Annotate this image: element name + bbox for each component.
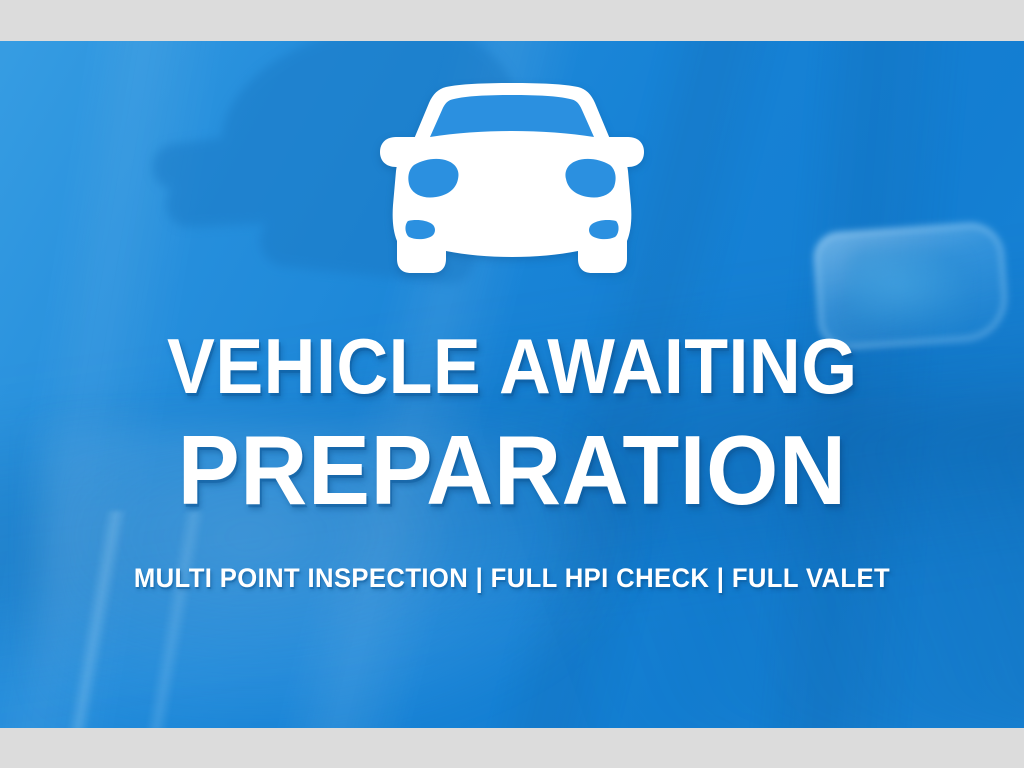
image-viewport: VEHICLE AWAITING PREPARATION MULTI POINT… xyxy=(0,0,1024,768)
vehicle-placeholder-banner: VEHICLE AWAITING PREPARATION MULTI POINT… xyxy=(0,41,1024,728)
car-front-icon xyxy=(380,79,644,275)
headline-line-1: VEHICLE AWAITING xyxy=(167,327,857,405)
banner-content: VEHICLE AWAITING PREPARATION MULTI POINT… xyxy=(0,41,1024,728)
headline-line-2: PREPARATION xyxy=(177,421,846,519)
services-subtitle: MULTI POINT INSPECTION | FULL HPI CHECK … xyxy=(134,563,890,593)
